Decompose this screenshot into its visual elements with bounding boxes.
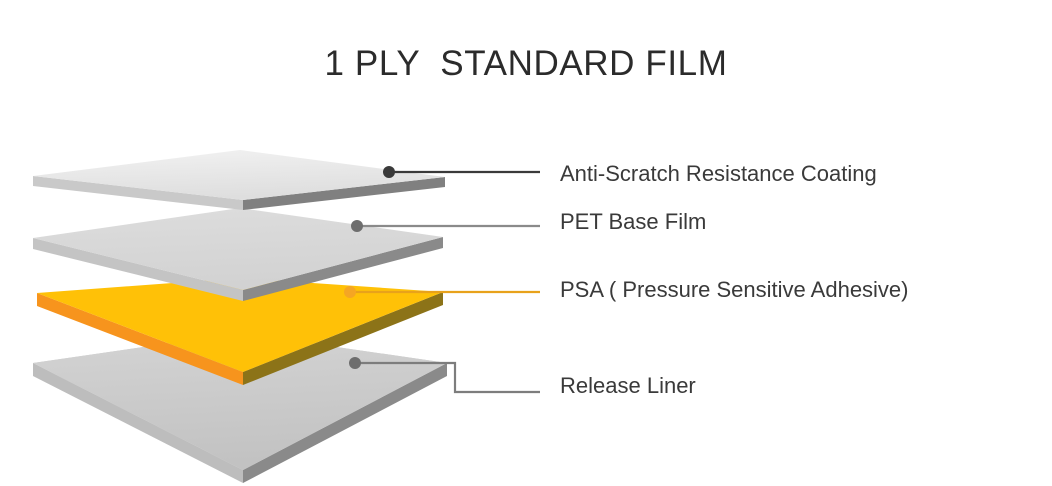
diagram-canvas: 1 PLY STANDARD FILM xyxy=(0,0,1052,486)
layer-stack-illustration xyxy=(0,0,1052,486)
layer-label-psa-adhesive: PSA ( Pressure Sensitive Adhesive) xyxy=(560,279,909,301)
layer-label-anti-scratch-coating: Anti-Scratch Resistance Coating xyxy=(560,163,877,185)
layer-pet-base-film xyxy=(33,208,443,301)
layer-anti-scratch-coating xyxy=(33,150,445,210)
leader-dot-release-liner xyxy=(349,357,361,369)
layer-label-pet-base-film: PET Base Film xyxy=(560,211,706,233)
leader-dot-psa xyxy=(344,286,356,298)
layer-label-release-liner: Release Liner xyxy=(560,375,696,397)
leader-dot-coating xyxy=(383,166,395,178)
leader-dot-pet xyxy=(351,220,363,232)
pet-top-face xyxy=(33,208,443,290)
